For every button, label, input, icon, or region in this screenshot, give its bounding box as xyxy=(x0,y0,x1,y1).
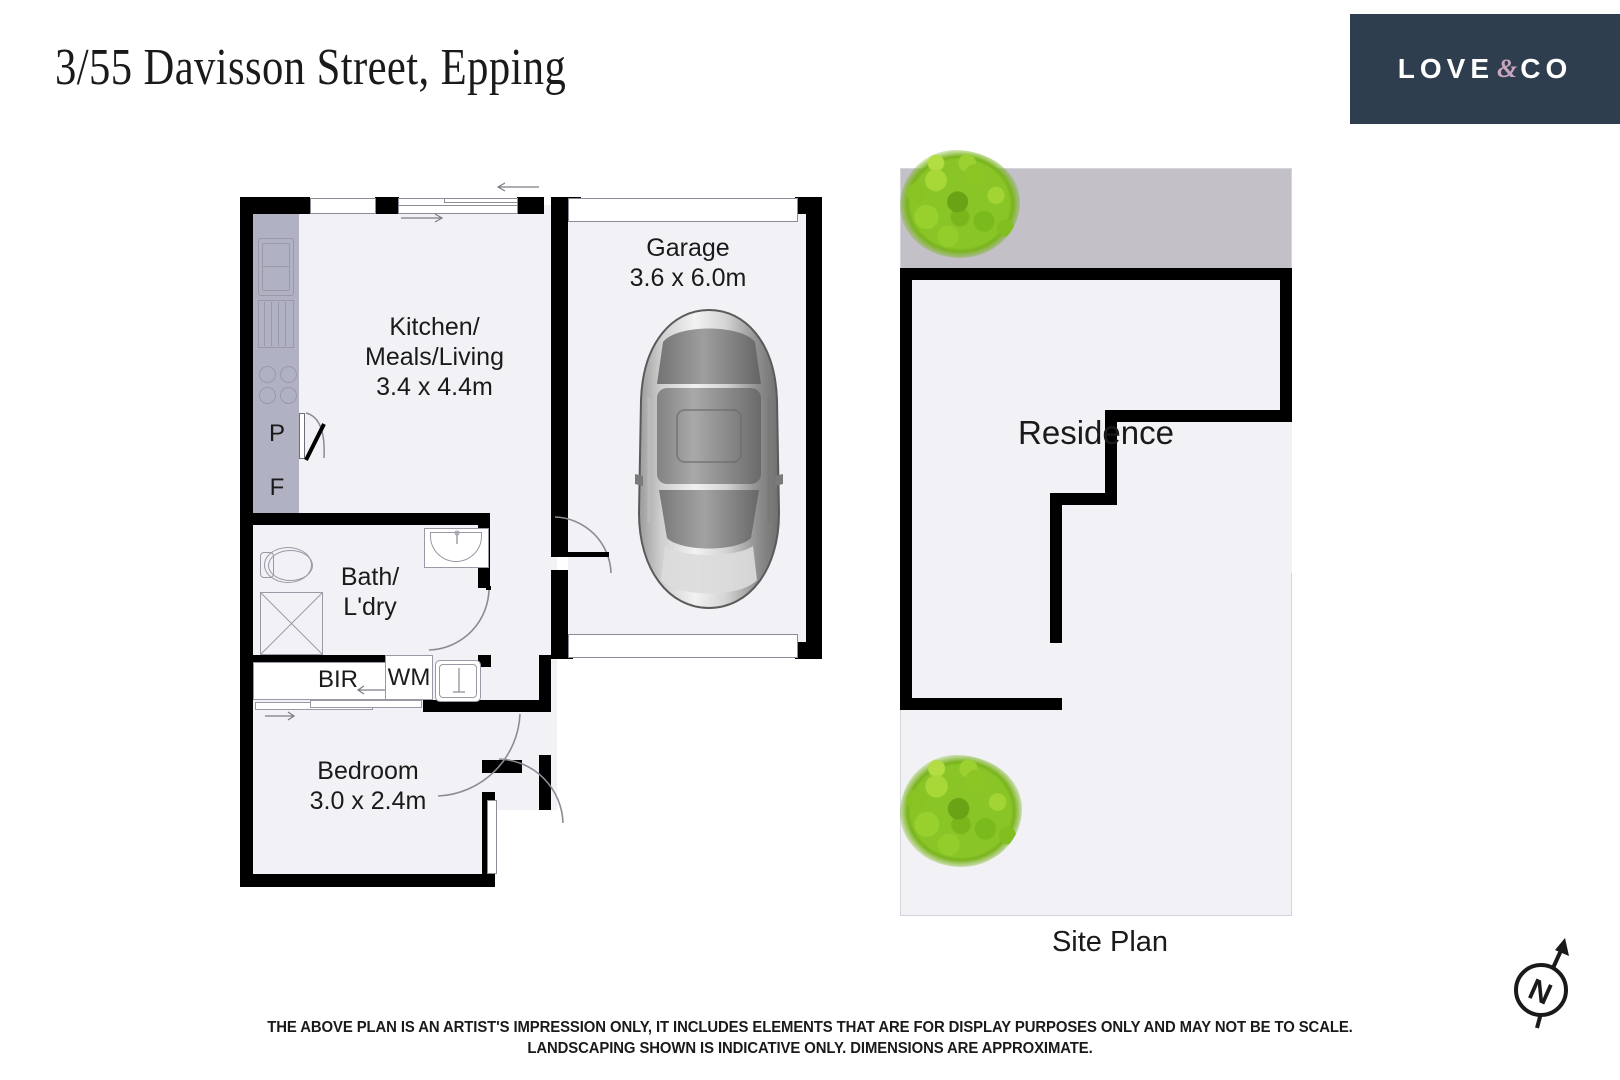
kitchen-sink-bowl-icon xyxy=(262,243,290,291)
tree-icon-top xyxy=(900,150,1020,258)
garage-door-north xyxy=(568,198,798,222)
bir-arrow-right-icon xyxy=(262,710,298,722)
wall-garage-south-right xyxy=(795,642,822,659)
residence-wall-left xyxy=(900,268,912,710)
car-illustration xyxy=(633,308,785,613)
disclaimer-text: THE ABOVE PLAN IS AN ARTIST'S IMPRESSION… xyxy=(32,1018,1587,1060)
bir-sliding-panel-2 xyxy=(310,700,422,708)
drainer-groove xyxy=(264,302,265,346)
cooktop-burner-icon xyxy=(280,387,297,404)
floor-plan: Kitchen/ Meals/Living 3.4 x 4.4m Garage … xyxy=(0,0,900,950)
kitchen-label-line2: Meals/Living xyxy=(312,342,557,372)
brand-logo: LOVE&CO xyxy=(1350,14,1620,124)
wall-kitchen-bath-divider xyxy=(240,513,490,525)
bath-door-leaf xyxy=(486,586,491,590)
residence-wall-top xyxy=(900,268,1292,280)
toilet-seat-icon xyxy=(268,550,313,581)
bedroom-dimensions: 3.0 x 2.4m xyxy=(252,786,484,816)
site-plan: Residence Site Plan xyxy=(880,130,1340,950)
residence-wall-step-v2 xyxy=(1050,493,1062,643)
brand-word-love: LOVE xyxy=(1398,53,1494,85)
disclaimer-line-2: LANDSCAPING SHOWN IS INDICATIVE ONLY. DI… xyxy=(32,1039,1587,1060)
kitchen-dimensions: 3.4 x 4.4m xyxy=(312,372,557,402)
bath-label-line1: Bath/ xyxy=(310,562,430,592)
bath-label-line2: L'dry xyxy=(310,592,430,622)
bedroom-room-label: Bedroom 3.0 x 2.4m xyxy=(252,756,484,816)
fridge-tag: F xyxy=(255,474,299,503)
sliding-door-panel xyxy=(444,198,518,203)
vanity-tap-icon xyxy=(448,530,466,548)
kitchen-room-label: Kitchen/ Meals/Living 3.4 x 4.4m xyxy=(312,312,557,402)
wall-north-pier-2 xyxy=(517,197,544,214)
wall-south-bedroom xyxy=(240,874,495,887)
brand-ampersand-icon: & xyxy=(1497,54,1517,84)
residence-wall-bottom xyxy=(900,698,1062,710)
bedroom-label-line1: Bedroom xyxy=(252,756,484,786)
brand-word-co: CO xyxy=(1520,53,1572,85)
garage-label-line1: Garage xyxy=(568,233,808,263)
brand-logo-text: LOVE&CO xyxy=(1398,53,1572,85)
pantry-tag: P xyxy=(255,420,299,449)
wall-north-left xyxy=(240,197,310,214)
wall-hall-east xyxy=(539,655,551,712)
garage-room-label: Garage 3.6 x 6.0m xyxy=(568,233,808,293)
drainer-groove xyxy=(271,302,272,346)
residence-wall-right-upper xyxy=(1280,268,1292,418)
garage-dimensions: 3.6 x 6.0m xyxy=(568,263,808,293)
wm-tag: WM xyxy=(382,664,436,693)
cooktop-burner-icon xyxy=(259,387,276,404)
residence-fill-notch xyxy=(1075,563,1120,648)
sliding-door-track xyxy=(398,205,518,206)
bath-door-swing-icon xyxy=(425,586,495,656)
pantry-door-swing-icon xyxy=(298,408,330,464)
drainer-groove xyxy=(285,302,286,346)
wall-bir-enclosure xyxy=(240,655,252,667)
site-plan-caption: Site Plan xyxy=(880,926,1340,959)
kitchen-label-line1: Kitchen/ xyxy=(312,312,557,342)
residence-outline xyxy=(900,268,1292,713)
wall-garage-east xyxy=(806,197,822,659)
residence-label: Residence xyxy=(900,413,1292,453)
drainer-groove xyxy=(278,302,279,346)
cooktop-burner-icon xyxy=(280,366,297,383)
cooktop-burner-icon xyxy=(259,366,276,383)
garage-pedestrian-door-jamb xyxy=(551,552,609,557)
window-kitchen-north xyxy=(310,198,376,214)
bath-room-label: Bath/ L'dry xyxy=(310,562,430,622)
kitchen-sink-divider xyxy=(262,266,290,267)
garage-door-south xyxy=(568,634,798,658)
garage-door-swing-icon xyxy=(553,515,615,577)
disclaimer-line-1: THE ABOVE PLAN IS AN ARTIST'S IMPRESSION… xyxy=(32,1018,1587,1039)
sliding-direction-arrow-right-icon xyxy=(398,211,446,225)
sliding-direction-arrow-left-icon xyxy=(495,180,543,194)
laundry-tap-icon xyxy=(450,666,468,698)
tree-icon-bottom xyxy=(900,755,1022,867)
entry-door-swing-icon xyxy=(495,755,567,827)
wall-north-pier xyxy=(375,197,399,214)
